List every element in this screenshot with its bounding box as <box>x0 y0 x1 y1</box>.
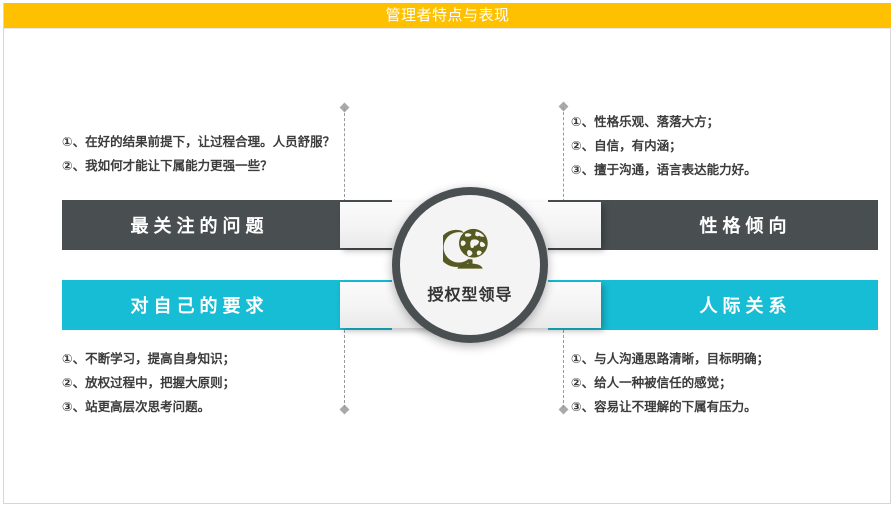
connector-line-top-left <box>344 108 345 202</box>
center-node-label: 授权型领导 <box>427 281 512 305</box>
bullet-item: ①、性格乐观、落落大方； <box>571 110 757 134</box>
bullets-bottom-right: ①、与人沟通思路清晰，目标明确； ②、给人一种被信任的感觉； ③、容易让不理解的… <box>571 347 769 419</box>
bullet-item: ①、与人沟通思路清晰，目标明确； <box>571 347 769 371</box>
bullet-item: ③、容易让不理解的下属有压力。 <box>571 395 769 419</box>
slide-canvas: 管理者特点与表现 ①、在好的结果前提下，让过程合理。人员舒服？ ②、我如何才能让… <box>0 0 895 507</box>
bullet-item: ①、不断学习，提高自身知识； <box>62 347 235 371</box>
title-divider <box>4 28 891 29</box>
connector-dot-bottom-right <box>559 405 569 415</box>
bullets-top-right: ①、性格乐观、落落大方； ②、自信，有内涵； ③、擅于沟通，语言表达能力好。 <box>571 110 757 182</box>
connector-line-bottom-left <box>344 330 345 408</box>
connector-line-bottom-right <box>563 330 564 408</box>
connector-line-top-right <box>563 107 564 202</box>
label-bar-top-left-text: 最关注的问题 <box>126 212 269 238</box>
bullet-item: ②、放权过程中，把握大原则； <box>62 371 235 395</box>
bullet-item: ①、在好的结果前提下，让过程合理。人员舒服？ <box>62 130 335 154</box>
label-bar-bottom-right-text: 人际关系 <box>695 292 792 318</box>
page-border-bottom <box>3 503 891 504</box>
page-border-right <box>890 3 891 504</box>
bullet-item: ③、擅于沟通，语言表达能力好。 <box>571 158 757 182</box>
label-bar-top-right-text: 性格倾向 <box>695 212 792 238</box>
globe-icon <box>443 223 497 277</box>
slide-title-bar: 管理者特点与表现 <box>4 3 891 28</box>
bullet-item: ③、站更高层次思考问题。 <box>62 395 235 419</box>
bullet-item: ②、给人一种被信任的感觉； <box>571 371 769 395</box>
bullet-item: ②、自信，有内涵； <box>571 134 757 158</box>
bullet-item: ②、我如何才能让下属能力更强一些？ <box>62 154 335 178</box>
page-border-left <box>3 3 4 504</box>
page-title: 管理者特点与表现 <box>385 3 509 28</box>
center-node[interactable]: 授权型领导 <box>392 187 548 343</box>
label-bar-bottom-left-text: 对自己的要求 <box>126 292 269 318</box>
bullets-bottom-left: ①、不断学习，提高自身知识； ②、放权过程中，把握大原则； ③、站更高层次思考问… <box>62 347 235 419</box>
connector-dot-bottom-left <box>340 405 350 415</box>
bullets-top-left: ①、在好的结果前提下，让过程合理。人员舒服？ ②、我如何才能让下属能力更强一些？ <box>62 130 335 178</box>
